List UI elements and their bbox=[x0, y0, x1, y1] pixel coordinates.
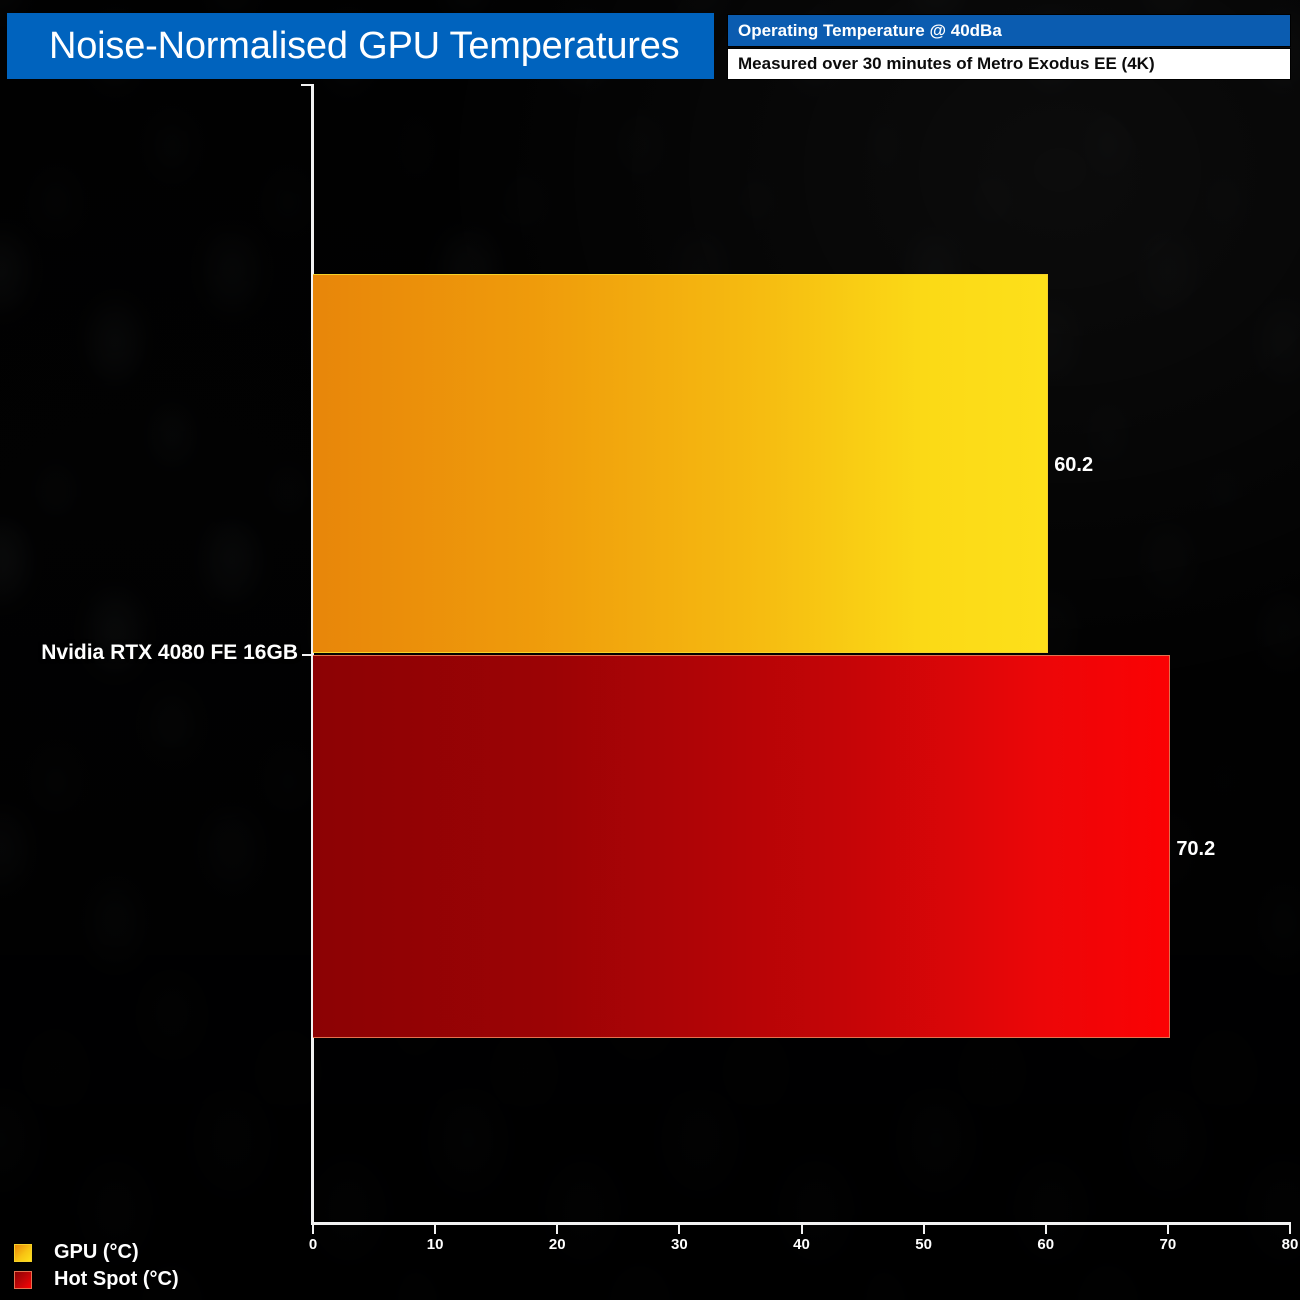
x-axis-tick-label: 20 bbox=[549, 1236, 566, 1253]
bar-hotspot-temperature[interactable] bbox=[313, 655, 1170, 1038]
chart-title-banner: Noise-Normalised GPU Temperatures bbox=[7, 13, 714, 79]
legend-item-hotspot[interactable]: Hot Spot (°C) bbox=[14, 1266, 179, 1293]
x-axis-tick bbox=[923, 1225, 925, 1234]
x-axis-tick-label: 40 bbox=[793, 1236, 810, 1253]
bar-value-hotspot: 70.2 bbox=[1176, 838, 1215, 861]
x-axis-tick bbox=[556, 1225, 558, 1234]
x-axis-tick bbox=[312, 1225, 314, 1234]
legend-swatch-hotspot-icon bbox=[14, 1271, 32, 1289]
x-axis-tick bbox=[434, 1225, 436, 1234]
x-axis-tick bbox=[801, 1225, 803, 1234]
x-axis-tick bbox=[1045, 1225, 1047, 1234]
x-axis-tick-label: 50 bbox=[915, 1236, 932, 1253]
x-axis-tick-label: 70 bbox=[1160, 1236, 1177, 1253]
x-axis-tick bbox=[1289, 1225, 1291, 1234]
x-axis-tick bbox=[678, 1225, 680, 1234]
page-title: Noise-Normalised GPU Temperatures bbox=[7, 25, 679, 68]
chart-legend: GPU (°C) Hot Spot (°C) bbox=[14, 1239, 179, 1293]
y-axis-category-tick bbox=[302, 654, 313, 656]
chart-canvas: Noise-Normalised GPU Temperatures Operat… bbox=[0, 0, 1300, 1300]
info-box-operating-temperature: Operating Temperature @ 40dBa bbox=[727, 14, 1291, 47]
bar-gpu-temperature[interactable] bbox=[313, 274, 1048, 653]
legend-item-gpu[interactable]: GPU (°C) bbox=[14, 1239, 179, 1266]
legend-label-hotspot: Hot Spot (°C) bbox=[54, 1268, 179, 1291]
x-axis-tick-label: 0 bbox=[309, 1236, 317, 1253]
x-axis-tick-label: 60 bbox=[1037, 1236, 1054, 1253]
x-axis-tick-label: 10 bbox=[427, 1236, 444, 1253]
legend-swatch-gpu-icon bbox=[14, 1244, 32, 1262]
y-axis-top-tick bbox=[301, 84, 312, 86]
info-box-secondary-label: Measured over 30 minutes of Metro Exodus… bbox=[728, 54, 1155, 74]
x-axis-tick-label: 80 bbox=[1282, 1236, 1299, 1253]
info-box-measurement-details: Measured over 30 minutes of Metro Exodus… bbox=[727, 48, 1291, 80]
x-axis-tick bbox=[1167, 1225, 1169, 1234]
category-label-gpu-model: Nvidia RTX 4080 FE 16GB bbox=[41, 641, 298, 665]
legend-label-gpu: GPU (°C) bbox=[54, 1241, 139, 1264]
x-axis-tick-label: 30 bbox=[671, 1236, 688, 1253]
info-box-primary-label: Operating Temperature @ 40dBa bbox=[728, 21, 1002, 41]
bar-value-gpu: 60.2 bbox=[1054, 454, 1093, 477]
